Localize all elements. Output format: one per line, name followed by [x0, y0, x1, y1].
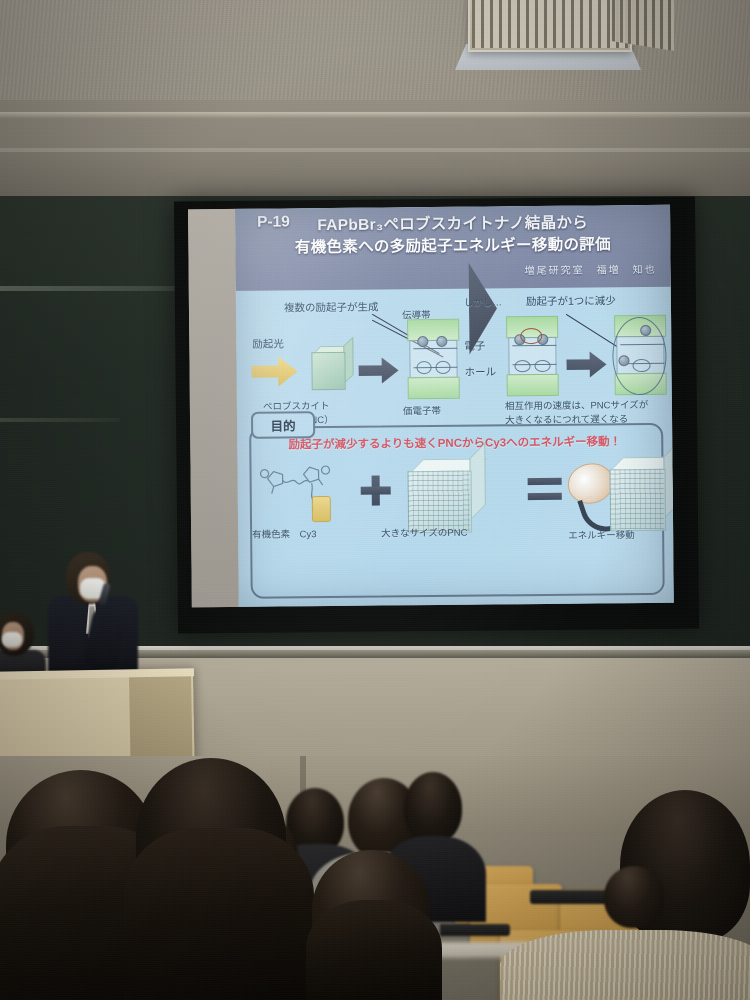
- conduction-band-block: [407, 319, 459, 341]
- slide-title-line2: 有機色素への多励起子エネルギー移動の評価: [235, 232, 670, 258]
- single-exciton-highlight-ellipse: [612, 317, 667, 396]
- plus-operator-icon: [361, 475, 391, 505]
- audience-member-long-hair: [124, 828, 314, 1000]
- projection-screen: P-19 FAPbBr₃ペロブスカイトナノ結晶から 有機色素への多励起子エネルギ…: [174, 197, 699, 634]
- electron-dot-2: [436, 336, 447, 347]
- hole-ring-2: [435, 361, 450, 374]
- energy-level-upper: [413, 348, 457, 349]
- ceiling-air-vent-icon: [468, 0, 632, 52]
- band-diagram-annihilation-before: [506, 316, 557, 394]
- vent-louvers: [472, 0, 628, 48]
- hole-ring-1: [416, 361, 431, 374]
- presenter-hand: [96, 598, 112, 615]
- lattice-grid-texture: [610, 469, 665, 530]
- cy3-highlight-box: [312, 496, 331, 522]
- screen-unprojected-margin: [188, 209, 239, 607]
- electron-dot-1: [417, 336, 428, 347]
- slide-title-band: P-19 FAPbBr₃ペロブスカイトナノ結晶から 有機色素への多励起子エネルギ…: [235, 205, 671, 291]
- pnc-with-dye-lattice-icon: [609, 457, 673, 534]
- slide-authors: 増尾研究室 福増 知也: [525, 261, 657, 277]
- process-arrow-2-icon: [566, 351, 606, 377]
- caption-organic-dye-cy3: 有機色素 Cy3: [252, 526, 317, 541]
- lecture-hall-photo: P-19 FAPbBr₃ペロブスカイトナノ結晶から 有機色素への多励起子エネルギ…: [0, 0, 750, 1000]
- band-diagram-multi-exciton: [407, 319, 458, 397]
- label-multi-exciton: 複数の励起子が生成: [284, 300, 379, 316]
- equals-operator-icon: [528, 478, 562, 500]
- hole-ring-2: [534, 360, 550, 372]
- seated-person-face-mask: [2, 632, 22, 647]
- excitation-light-arrow-icon: [251, 356, 297, 386]
- label-rate-note-line1: 相互作用の速度は、PNCサイズが: [505, 397, 648, 412]
- label-valence-band: 価電子帯: [403, 403, 441, 417]
- label-excitation-light: 励起光: [252, 336, 284, 351]
- process-arrow-1-icon: [358, 357, 398, 383]
- label-conduction-band: 伝導帯: [402, 307, 431, 321]
- chalkboard-seam: [0, 286, 185, 291]
- caption-large-pnc: 大きなサイズのPNC: [381, 525, 467, 540]
- audience-member-head: [604, 866, 664, 928]
- audience-member-head: [404, 772, 462, 844]
- audience-member-ponytail: [306, 900, 442, 1000]
- projected-slide: P-19 FAPbBr₃ペロブスカイトナノ結晶から 有機色素への多励起子エネルギ…: [235, 205, 674, 607]
- hole-ring-1: [514, 360, 530, 372]
- label-however: しかし…: [464, 294, 502, 308]
- objective-tab-label: 目的: [251, 411, 315, 439]
- cube-front-face: [311, 352, 345, 390]
- caption-energy-transfer: エネルギー移動: [568, 527, 635, 542]
- lattice-grid-texture: [408, 471, 471, 532]
- label-hole: ホール: [465, 364, 497, 379]
- valence-band-block: [507, 374, 559, 396]
- perovskite-nanocrystal-cube-icon: [311, 346, 351, 388]
- valence-band-block: [408, 377, 460, 399]
- label-exciton-decrease: 励起子が1つに減少: [526, 293, 616, 309]
- wall-rail: [0, 112, 750, 119]
- band-gap-box: [409, 340, 457, 378]
- seat-back-rail: [430, 924, 510, 936]
- cy3-molecule-icon: [259, 464, 346, 523]
- leader-line-exciton-decrease: [566, 314, 617, 347]
- chalkboard-seam-lower: [0, 418, 120, 422]
- wall-rail-secondary: [0, 148, 750, 152]
